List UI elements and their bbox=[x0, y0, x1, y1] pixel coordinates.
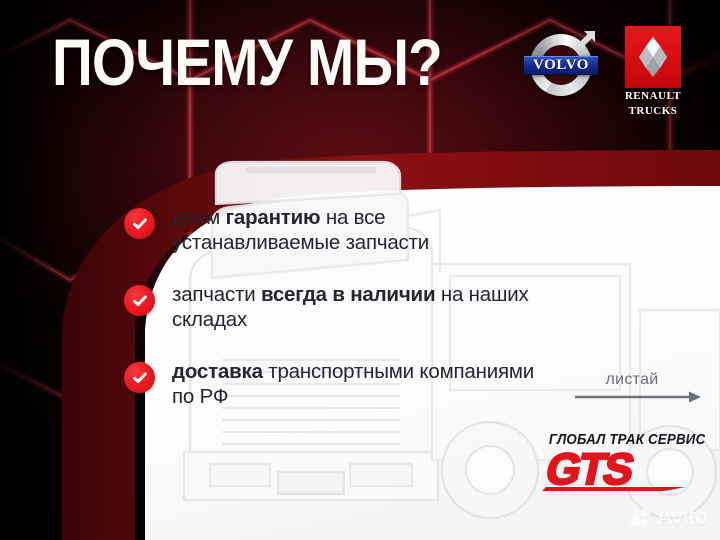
promo-slide: ПОЧЕМУ МЫ? VOLVO bbox=[0, 0, 720, 540]
benefit-pre: запчасти bbox=[172, 283, 261, 306]
swipe-hint: листай bbox=[575, 371, 703, 402]
benefit-text: запчасти всегда в наличии на наших склад… bbox=[172, 282, 554, 332]
company-tagline: ГЛОБАЛ ТРАК СЕРВИС bbox=[536, 432, 694, 448]
benefit-highlight: доставка bbox=[172, 360, 263, 383]
gts-wordmark: GTS bbox=[536, 446, 708, 497]
benefit-highlight: гарантию bbox=[226, 206, 321, 229]
svg-text:GTS: GTS bbox=[542, 446, 637, 492]
benefit-text: доставка транспортными компаниями по РФ bbox=[172, 359, 554, 409]
avito-dots-icon bbox=[629, 507, 651, 527]
benefit-pre: даем bbox=[172, 206, 226, 229]
arrow-right-icon bbox=[575, 390, 703, 402]
list-item: даем гарантию на все устанавливаемые зап… bbox=[124, 205, 554, 255]
check-circle-icon bbox=[124, 285, 155, 316]
avito-wordmark: Avito bbox=[656, 504, 708, 530]
company-logo: ГЛОБАЛ ТРАК СЕРВИС GTS bbox=[536, 432, 708, 497]
list-item: запчасти всегда в наличии на наших склад… bbox=[124, 282, 554, 332]
benefit-text: даем гарантию на все устанавливаемые зап… bbox=[172, 205, 554, 255]
swipe-label: листай bbox=[575, 371, 703, 389]
avito-watermark: Avito bbox=[629, 504, 708, 530]
benefit-highlight: всегда в наличии bbox=[261, 283, 435, 306]
check-circle-icon bbox=[124, 208, 155, 239]
check-circle-icon bbox=[124, 362, 155, 393]
benefits-list: даем гарантию на все устанавливаемые зап… bbox=[124, 205, 554, 409]
list-item: доставка транспортными компаниями по РФ bbox=[124, 359, 554, 409]
